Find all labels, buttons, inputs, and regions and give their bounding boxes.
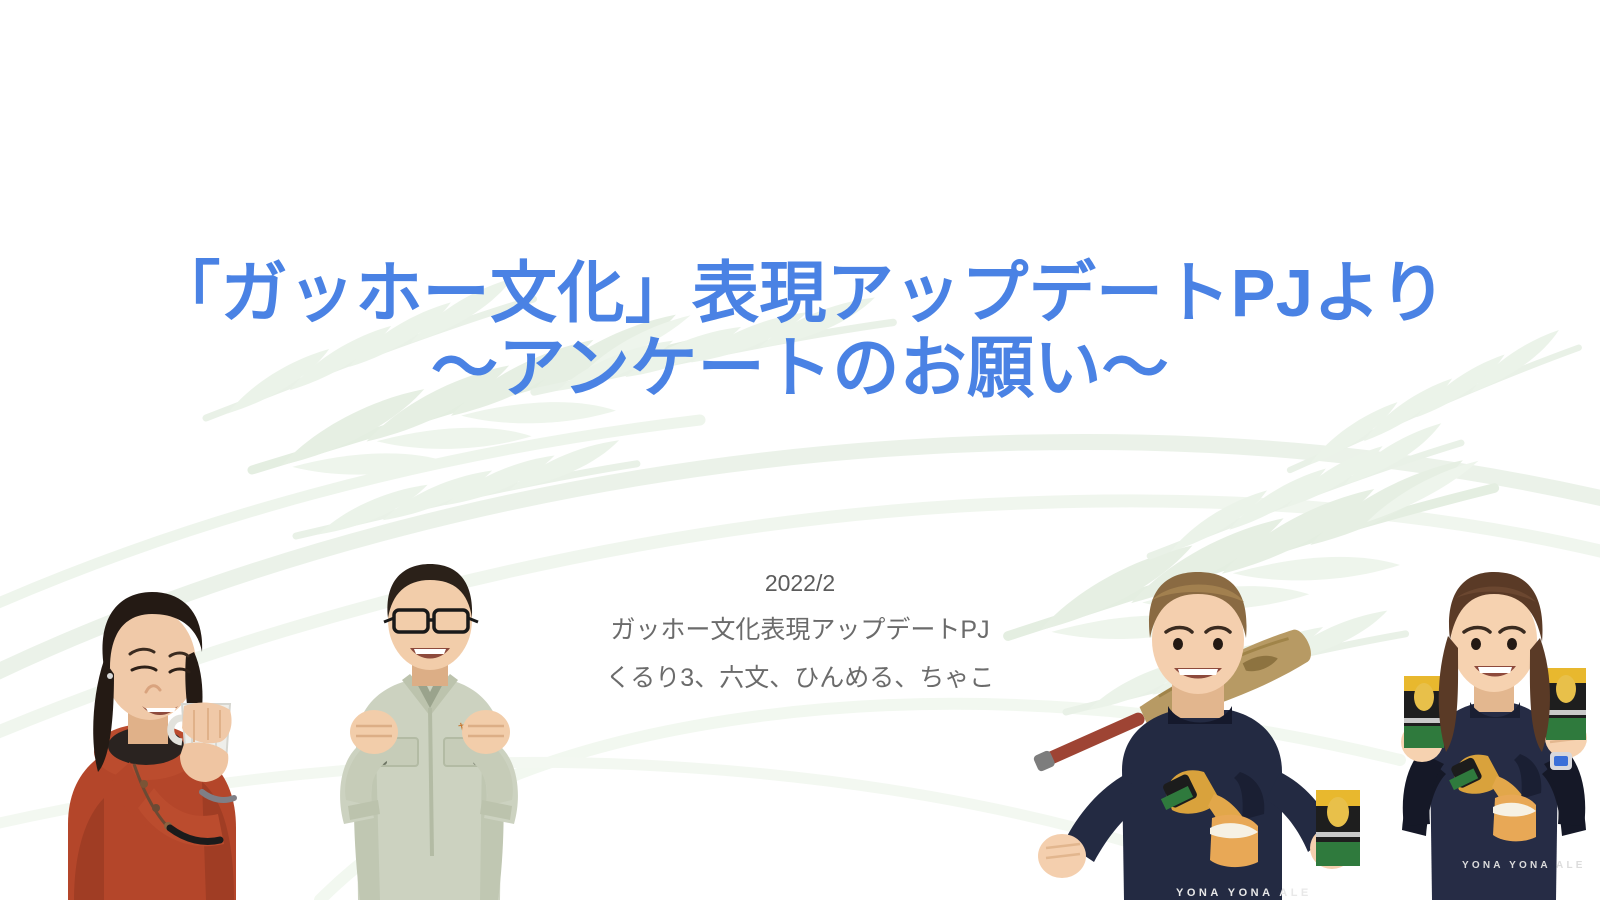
slide-title-line-1: 「ガッホー文化」表現アップデートPJより <box>0 256 1600 331</box>
sweatshirt-brand-text: YONA YONA ALE <box>1176 887 1312 899</box>
slide-meta-block: 2022/2 ガッホー文化表現アップデートPJ くるり3、六文、ひんめる、ちゃこ <box>0 572 1600 691</box>
presentation-date: 2022/2 <box>0 572 1600 595</box>
project-member-names: くるり3、六文、ひんめる、ちゃこ <box>0 666 1600 691</box>
slide-title-line-2: 〜アンケートのお願い〜 <box>0 331 1600 406</box>
slide-title: 「ガッホー文化」表現アップデートPJより 〜アンケートのお願い〜 <box>0 256 1600 406</box>
presentation-slide: 「ガッホー文化」表現アップデートPJより 〜アンケートのお願い〜 2022/2 … <box>0 0 1600 900</box>
project-team-name: ガッホー文化表現アップデートPJ <box>0 618 1600 643</box>
tshirt-brand-text: YONA YONA ALE <box>1462 860 1586 871</box>
